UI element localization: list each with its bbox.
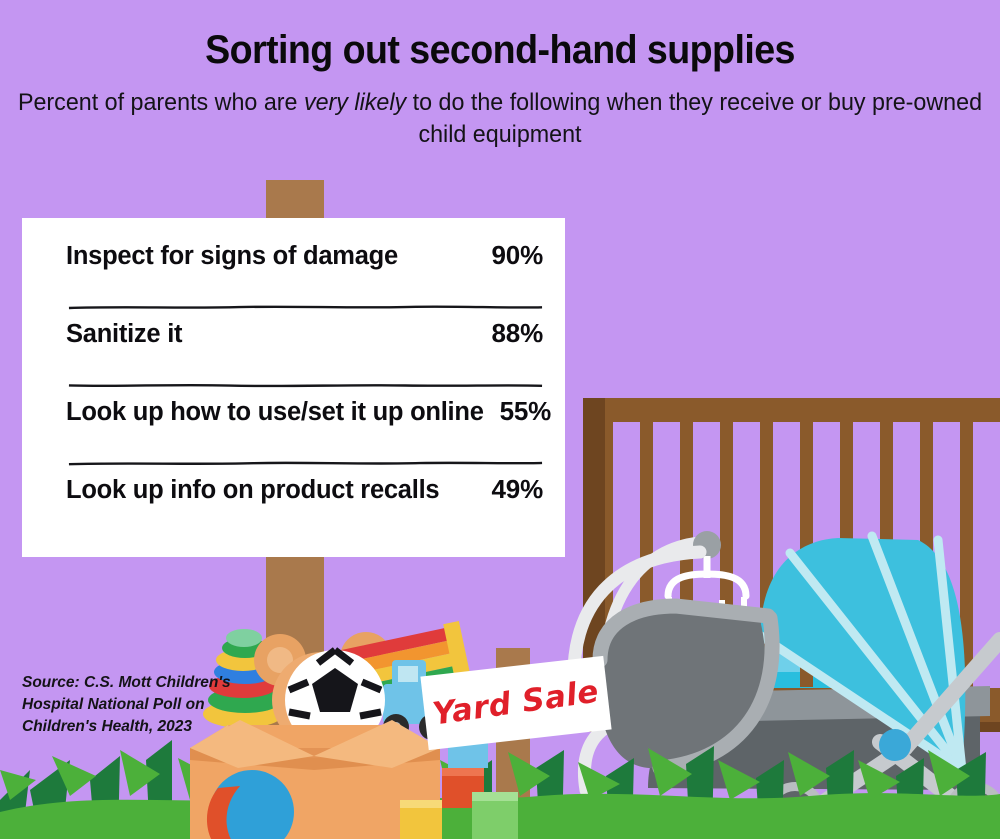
row-label: Look up how to use/set it up online bbox=[66, 398, 484, 427]
row-value: 55% bbox=[500, 396, 551, 427]
row-label: Look up info on product recalls bbox=[66, 476, 439, 505]
row-value: 90% bbox=[492, 240, 543, 271]
row-value: 88% bbox=[492, 318, 543, 349]
row-divider bbox=[68, 452, 543, 474]
infographic-canvas: Sorting out second-hand supplies Percent… bbox=[0, 0, 1000, 839]
row-divider bbox=[68, 296, 543, 318]
row-value: 49% bbox=[492, 474, 543, 505]
source-note: Source: C.S. Mott Children's Hospital Na… bbox=[22, 672, 252, 738]
row-label: Sanitize it bbox=[66, 320, 182, 349]
yard-sale-sign-text: Yard Sale bbox=[431, 674, 602, 733]
table-row: Look up info on product recalls 49% bbox=[46, 474, 545, 530]
row-divider bbox=[68, 374, 543, 396]
table-row: Sanitize it 88% bbox=[46, 318, 545, 374]
table-row: Look up how to use/set it up online 55% bbox=[46, 396, 545, 452]
table-row: Inspect for signs of damage 90% bbox=[46, 240, 545, 296]
hand-drawn-line-icon bbox=[68, 460, 543, 466]
statistics-card: Inspect for signs of damage 90% Sanitize… bbox=[22, 218, 565, 557]
row-label: Inspect for signs of damage bbox=[66, 242, 398, 271]
hand-drawn-line-icon bbox=[68, 304, 543, 310]
hand-drawn-line-icon bbox=[68, 382, 543, 388]
